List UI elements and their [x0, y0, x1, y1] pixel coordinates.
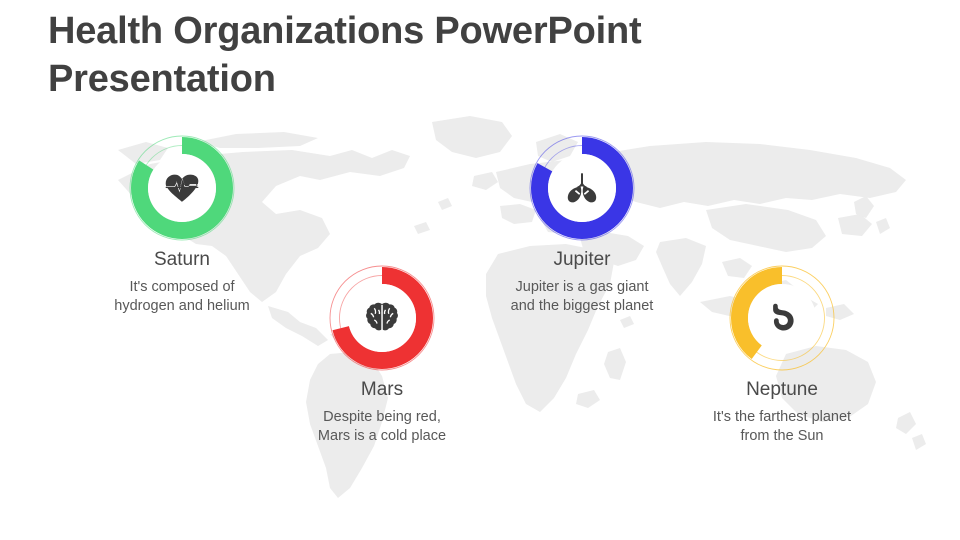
feature-item-mars[interactable]: Mars Despite being red, Mars is a cold p… — [267, 263, 497, 447]
donut-chart-jupiter[interactable] — [527, 133, 637, 243]
feature-item-jupiter[interactable]: Jupiter Jupiter is a gas giant and the b… — [467, 133, 697, 317]
item-title: Mars — [267, 378, 497, 402]
presentation-slide: Health Organizations PowerPoint Presenta… — [0, 0, 960, 540]
page-title: Health Organizations PowerPoint Presenta… — [48, 8, 768, 103]
item-title: Jupiter — [467, 248, 697, 272]
item-description: Jupiter is a gas giant and the biggest p… — [467, 278, 697, 317]
donut-chart-neptune[interactable] — [727, 263, 837, 373]
item-title: Neptune — [667, 378, 897, 402]
donut-chart-saturn[interactable] — [127, 133, 237, 243]
donut-chart-mars[interactable] — [327, 263, 437, 373]
feature-item-saturn[interactable]: Saturn It's composed of hydrogen and hel… — [67, 133, 297, 317]
item-description: It's composed of hydrogen and helium — [67, 278, 297, 317]
feature-item-neptune[interactable]: Neptune It's the farthest planet from th… — [667, 263, 897, 447]
item-description: Despite being red, Mars is a cold place — [267, 408, 497, 447]
item-description: It's the farthest planet from the Sun — [667, 408, 897, 447]
item-title: Saturn — [67, 248, 297, 272]
